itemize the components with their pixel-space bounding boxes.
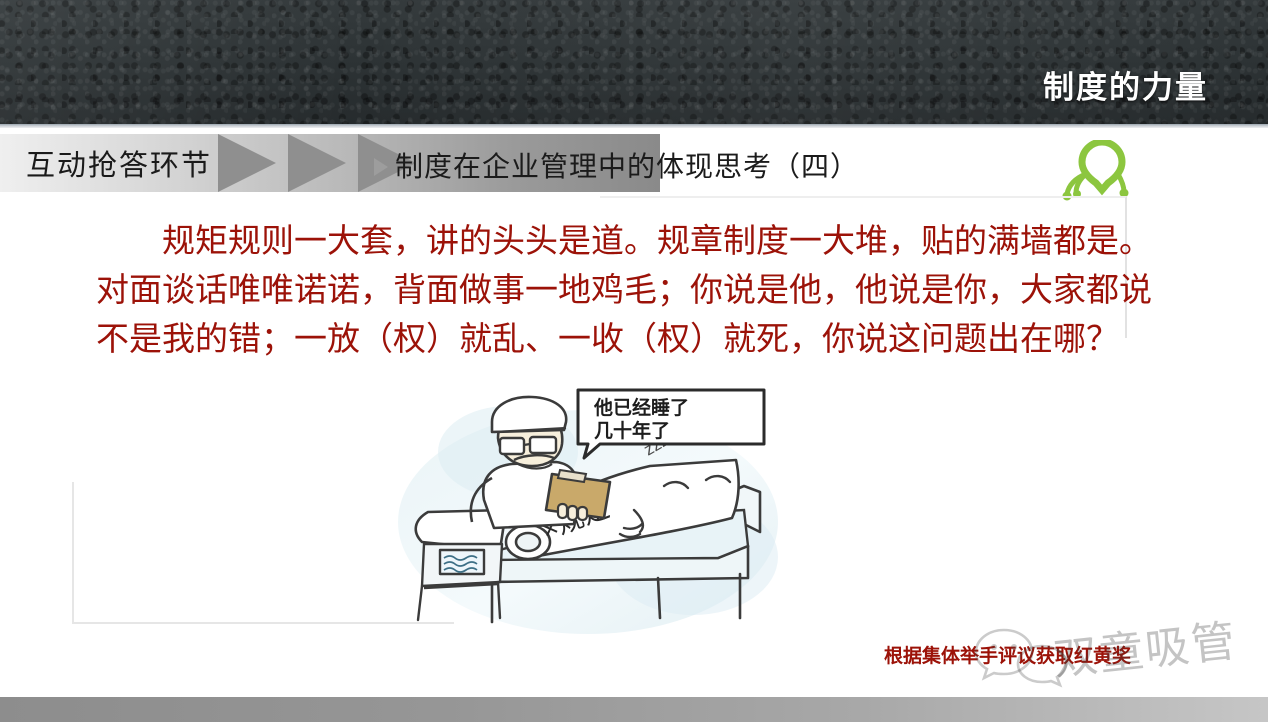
body-line-2: 对面谈话唯唯诺诺，背面做事一地鸡毛；你说是他，他说是你，大家都说 (96, 267, 1176, 316)
body-paragraph: 规矩规则一大套，讲的头头是道。规章制度一大堆，贴的满墙都是。 对面谈话唯唯诺诺，… (96, 218, 1176, 365)
green-person-pin-icon (1062, 140, 1142, 202)
cartoon-illustration: ×规定 zzz (388, 382, 784, 638)
footer-bar (0, 697, 1268, 722)
banner-label: 互动抢答环节 (26, 142, 212, 184)
body-line-3: 不是我的错；一放（权）就乱、一收（权）就死，你说这问题出在哪？ (96, 316, 1176, 365)
chevron-arrow-icon (218, 134, 276, 192)
footer-note: 根据集体举手评议获取红黄奖 (884, 641, 1131, 668)
page-title: 制度的力量 (1043, 62, 1208, 107)
speech-line-1: 他已经睡了 (593, 396, 689, 419)
body-line-1: 规矩规则一大套，讲的头头是道。规章制度一大堆，贴的满墙都是。 (96, 218, 1176, 267)
chevron-arrow-icon (288, 134, 346, 192)
chevron-small-icon (374, 158, 388, 176)
slide-canvas: 制度的力量 互动抢答环节 制度在企业管理中的体现思考（四） 规矩规则一大套，讲的… (0, 0, 1268, 722)
banner-subtitle: 制度在企业管理中的体现思考（四） (395, 145, 859, 185)
speech-line-2: 几十年了 (594, 419, 670, 442)
header-divider-rule (0, 124, 1268, 128)
